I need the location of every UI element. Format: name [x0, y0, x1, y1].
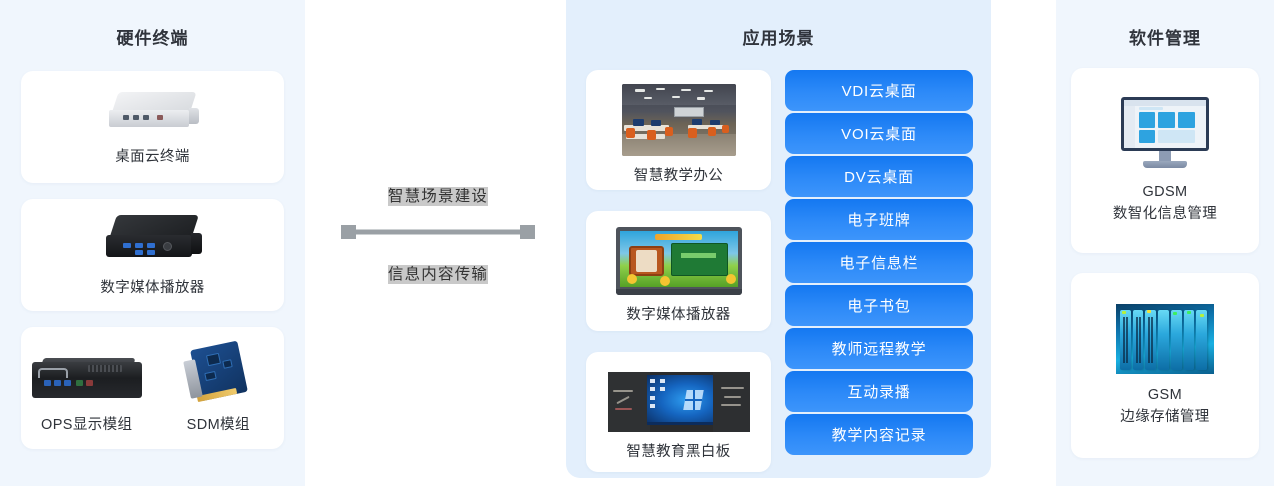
connector-label-bottom-text: 信息内容传输 — [388, 265, 488, 284]
gsm-storage-photo — [1116, 304, 1214, 374]
hardware-column-title: 硬件终端 — [0, 24, 305, 49]
scenario-button-list: VDI云桌面 VOI云桌面 DV云桌面 电子班牌 电子信息栏 电子书包 教师远程… — [785, 70, 973, 457]
scenario-button-dv[interactable]: DV云桌面 — [785, 156, 973, 197]
media-player-photo — [101, 213, 205, 267]
scenario-button-voi[interactable]: VOI云桌面 — [785, 113, 973, 154]
scenario-button-ebag[interactable]: 电子书包 — [785, 285, 973, 326]
software-card-gdsm[interactable]: GDSM 数智化信息管理 — [1071, 68, 1259, 253]
module-item-sdm[interactable]: SDM模组 — [154, 342, 283, 436]
interactive-flat-panel-photo — [616, 227, 742, 295]
scenario-button-info-board[interactable]: 电子信息栏 — [785, 242, 973, 283]
scenario-card-caption: 智慧教学办公 — [634, 167, 723, 187]
hardware-card-caption: 数字媒体播放器 — [100, 279, 204, 299]
scenario-card-caption: 智慧教育黑白板 — [626, 443, 730, 463]
scenario-card-caption: 数字媒体播放器 — [626, 306, 730, 326]
software-card-code: GDSM — [1142, 183, 1187, 203]
center-connector: 智慧场景建设 信息内容传输 — [310, 0, 566, 486]
software-card-list: GDSM 数智化信息管理 — [1071, 68, 1259, 478]
thin-client-photo — [105, 88, 201, 134]
scenario-button-vdi[interactable]: VDI云桌面 — [785, 70, 973, 111]
module-caption-sdm: SDM模组 — [187, 416, 250, 436]
diagram-canvas: 硬件终端 桌面云终端 — [0, 0, 1274, 486]
scenario-card-media-player[interactable]: 数字媒体播放器 — [586, 211, 771, 331]
sdm-module-photo — [185, 342, 251, 404]
hardware-card-caption: 桌面云终端 — [115, 148, 190, 168]
scenario-button-class-card[interactable]: 电子班牌 — [785, 199, 973, 240]
classroom-photo — [622, 84, 736, 156]
software-card-gsm[interactable]: GSM 边缘存储管理 — [1071, 273, 1259, 458]
blackboard-photo — [608, 372, 750, 432]
scenarios-card-list: 智慧教学办公 数字媒体播放器 — [586, 70, 771, 486]
software-card-caption: 边缘存储管理 — [1120, 408, 1209, 428]
connector-label-top-text: 智慧场景建设 — [388, 187, 488, 206]
hardware-card-modules[interactable]: OPS显示模组 SDM模组 — [21, 327, 284, 449]
scenario-button-content-record[interactable]: 教学内容记录 — [785, 414, 973, 455]
connector-label-top: 智慧场景建设 — [310, 184, 566, 206]
software-card-caption: 数智化信息管理 — [1113, 205, 1217, 225]
software-column-title: 软件管理 — [1056, 24, 1274, 49]
module-pair: OPS显示模组 SDM模组 — [21, 342, 284, 436]
connector-label-bottom: 信息内容传输 — [310, 262, 566, 284]
software-card-code: GSM — [1148, 386, 1182, 406]
hardware-card-thin-client[interactable]: 桌面云终端 — [21, 71, 284, 183]
scenario-button-remote-teach[interactable]: 教师远程教学 — [785, 328, 973, 369]
scenario-card-blackboard[interactable]: 智慧教育黑白板 — [586, 352, 771, 472]
scenario-card-classroom[interactable]: 智慧教学办公 — [586, 70, 771, 190]
hardware-card-list: 桌面云终端 数字媒体播放器 — [21, 71, 284, 465]
module-item-ops[interactable]: OPS显示模组 — [22, 354, 151, 436]
connector-double-arrow — [341, 225, 535, 239]
ops-module-photo — [28, 354, 146, 404]
gdsm-monitor-photo — [1121, 97, 1209, 171]
scenario-button-interactive-rec[interactable]: 互动录播 — [785, 371, 973, 412]
scenarios-column-title: 应用场景 — [566, 24, 991, 49]
module-caption-ops: OPS显示模组 — [41, 416, 132, 436]
hardware-card-media-player[interactable]: 数字媒体播放器 — [21, 199, 284, 311]
